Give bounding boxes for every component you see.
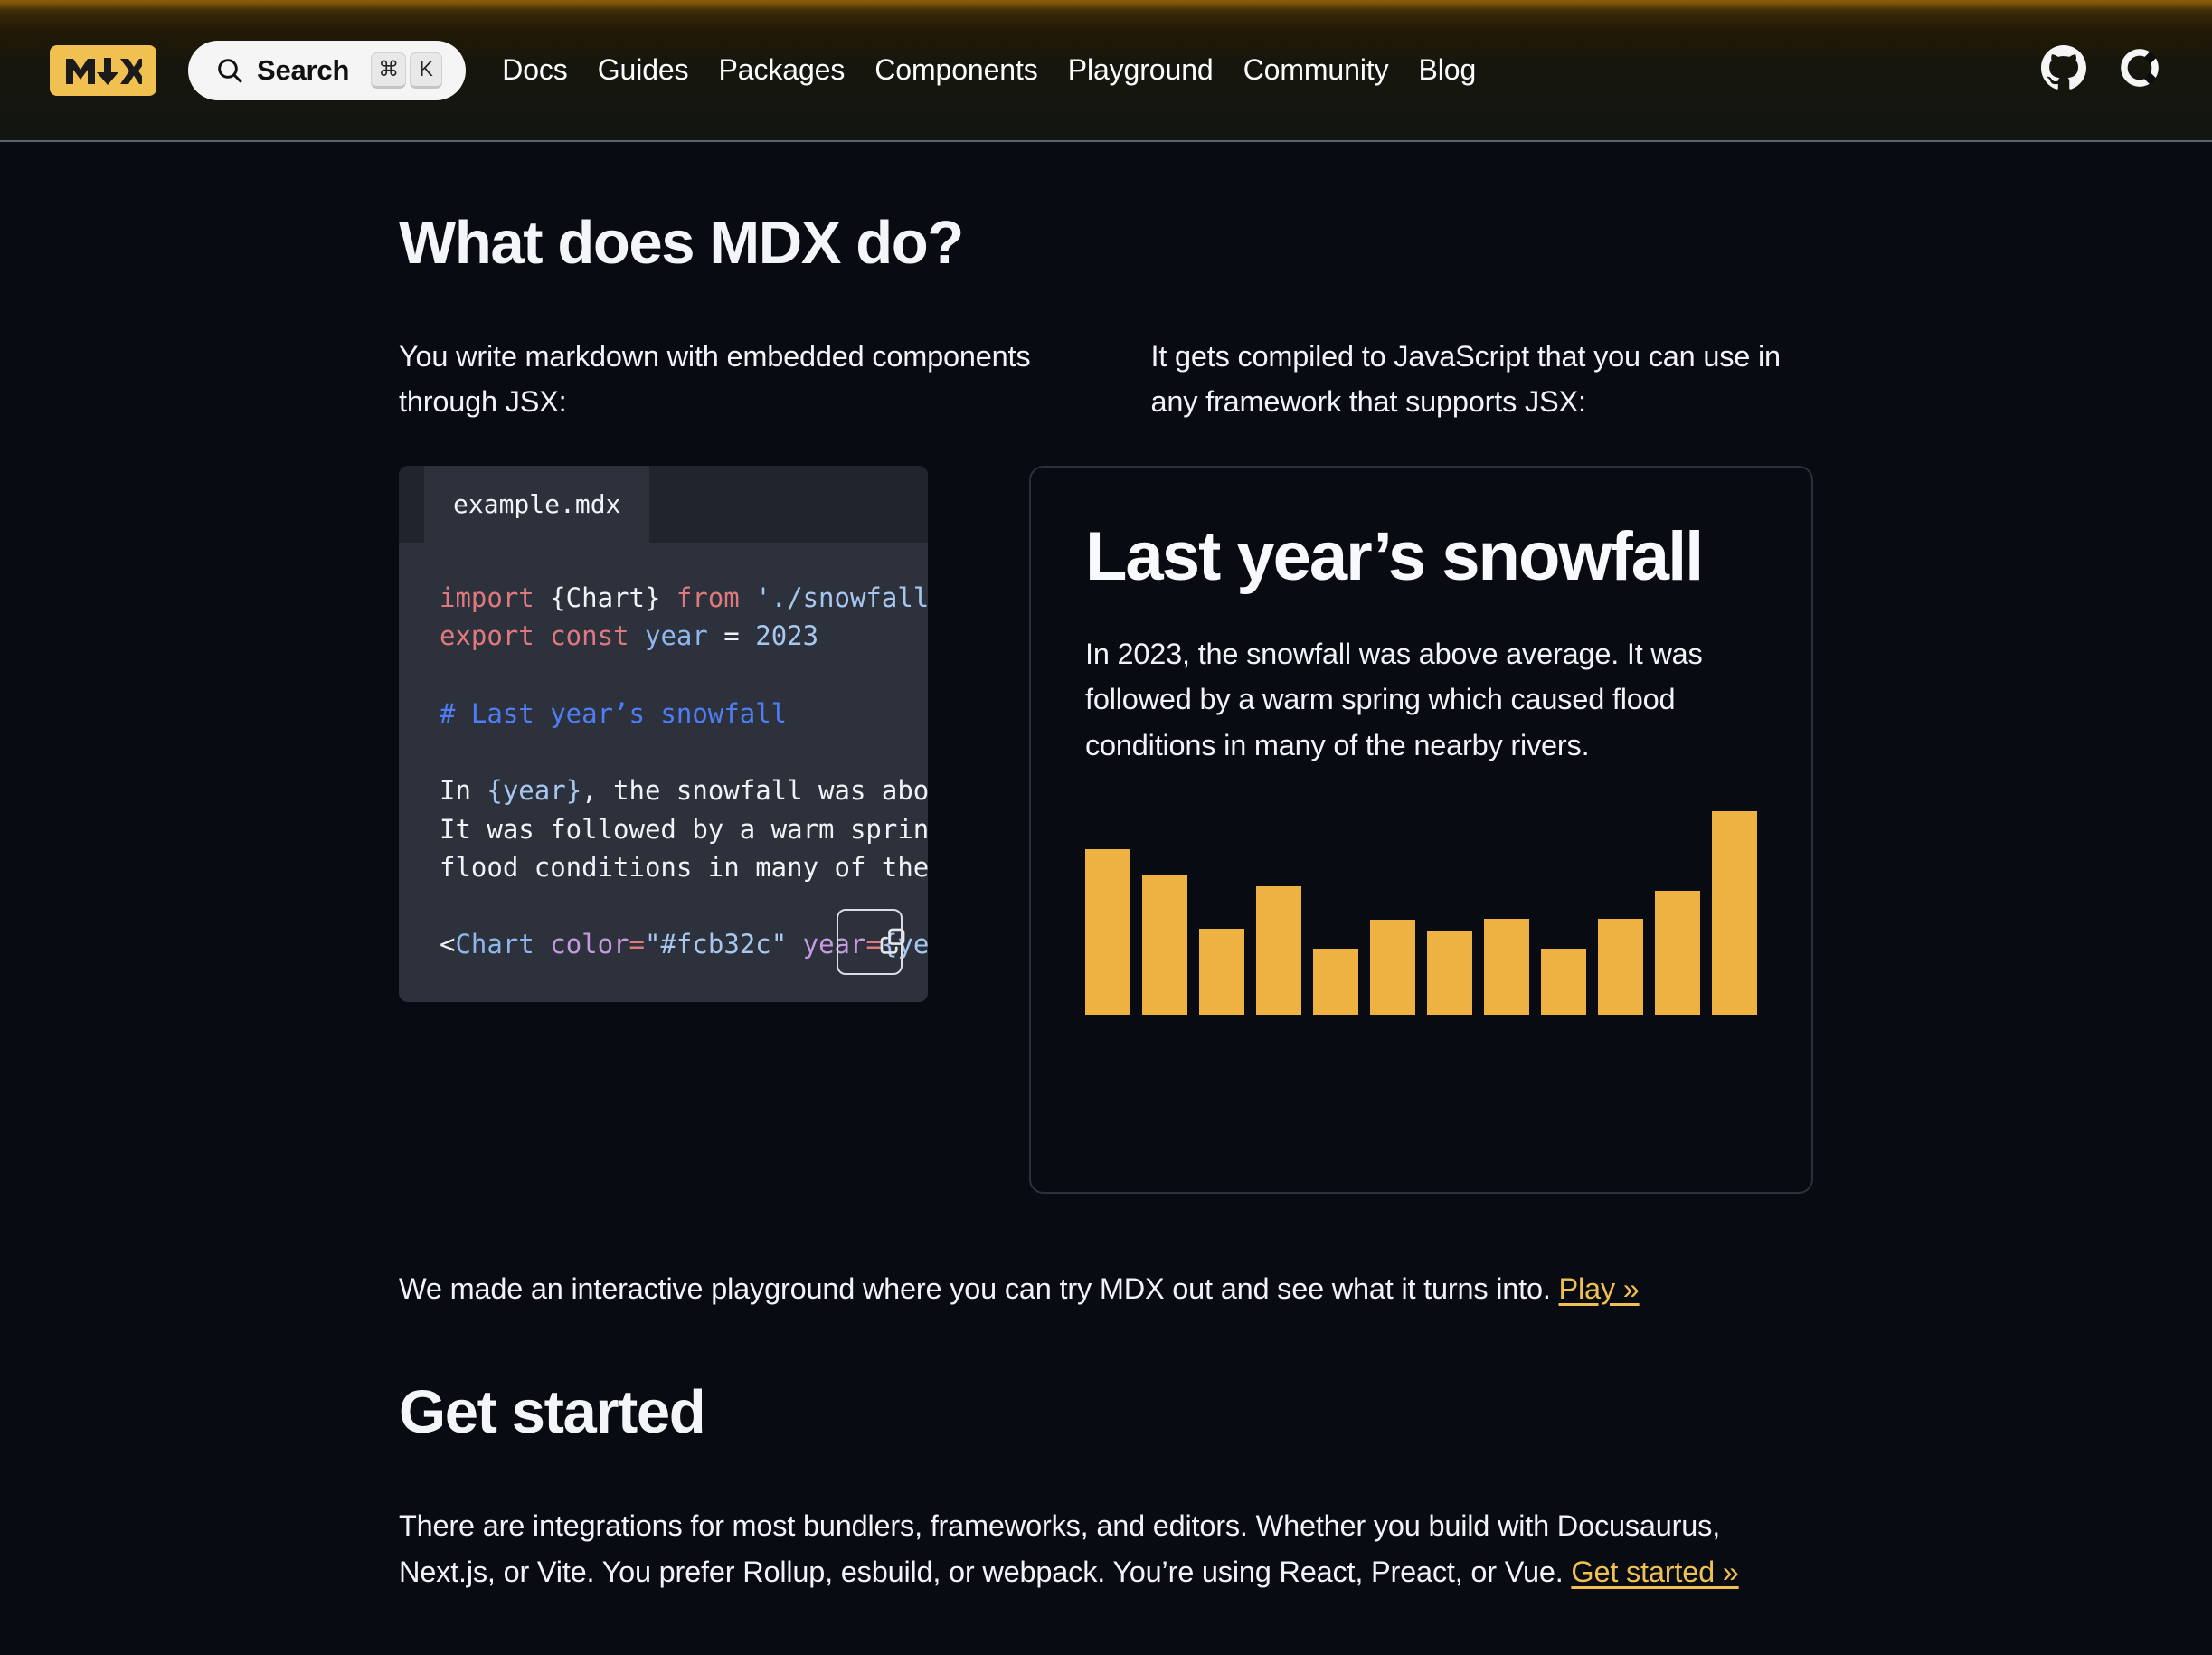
code-token-jsx-open: < — [440, 929, 455, 960]
nav-item-playground[interactable]: Playground — [1068, 53, 1214, 87]
intro-left-text: You write markdown with embedded compone… — [399, 334, 1062, 425]
search-shortcut: ⌘ K — [371, 52, 442, 89]
search-input[interactable]: Search ⌘ K — [188, 41, 466, 100]
intro-right-text: It gets compiled to JavaScript that you … — [1151, 334, 1814, 425]
header-actions — [2041, 45, 2162, 95]
get-started-text: There are integrations for most bundlers… — [399, 1509, 1720, 1587]
nav-item-docs[interactable]: Docs — [502, 53, 568, 87]
snowfall-bar-chart — [1085, 811, 1757, 1015]
chart-bar — [1199, 929, 1244, 1015]
chart-bar — [1370, 920, 1415, 1015]
nav-item-components[interactable]: Components — [874, 53, 1037, 87]
code-token-prose-1a: In — [440, 775, 487, 806]
playground-paragraph: We made an interactive playground where … — [399, 1266, 1813, 1311]
nav-item-community[interactable]: Community — [1243, 53, 1389, 87]
chart-bar — [1541, 949, 1586, 1015]
github-icon — [2041, 45, 2086, 95]
chart-bar — [1142, 875, 1187, 1016]
chart-bar — [1256, 886, 1301, 1015]
search-placeholder: Search — [257, 54, 349, 87]
code-token-prose-2: It was followed by a warm spring which c… — [440, 814, 928, 845]
playground-text: We made an interactive playground where … — [399, 1272, 1558, 1305]
page-title: What does MDX do? — [399, 208, 1813, 278]
code-token-export: export — [440, 620, 534, 651]
code-token-attr-color-eq: = — [629, 929, 645, 960]
mdx-logo[interactable] — [50, 45, 156, 96]
code-token-md-heading: # Last year’s snowfall — [440, 698, 787, 729]
chart-bar — [1313, 949, 1358, 1015]
site-header: Search ⌘ K Docs Guides Packages Componen… — [0, 0, 2212, 142]
primary-nav: Docs Guides Packages Components Playgrou… — [502, 53, 1476, 87]
rendered-output-card: Last year’s snowfall In 2023, the snowfa… — [1029, 466, 1813, 1194]
opencollective-icon — [2117, 45, 2162, 95]
get-started-paragraph: There are integrations for most bundlers… — [399, 1503, 1813, 1594]
code-token-jsx-tag: Chart — [455, 929, 534, 960]
github-link[interactable] — [2041, 45, 2086, 95]
kbd-cmd: ⌘ — [371, 52, 406, 89]
code-token-module-path: './snowfall.js' — [740, 582, 928, 613]
chart-bar — [1484, 919, 1529, 1016]
nav-item-packages[interactable]: Packages — [719, 53, 846, 87]
nav-item-guides[interactable]: Guides — [598, 53, 689, 87]
code-token-chart-import: {Chart} — [534, 582, 676, 613]
code-token-attr-color-value: "#fcb32c" — [645, 929, 787, 960]
intro-columns: You write markdown with embedded compone… — [399, 334, 1813, 425]
chart-bar — [1655, 891, 1700, 1015]
search-icon — [215, 56, 244, 85]
opencollective-link[interactable] — [2117, 45, 2162, 95]
chart-bar — [1427, 931, 1472, 1015]
code-tab-example-mdx[interactable]: example.mdx — [424, 466, 649, 543]
code-tabbar: example.mdx — [399, 466, 928, 543]
code-token-2023: 2023 — [755, 620, 818, 651]
chart-bar — [1598, 919, 1643, 1016]
code-block: example.mdx import {Chart} from './snowf… — [399, 466, 928, 1002]
code-token-year-expr: {year} — [487, 775, 581, 806]
chart-bar — [1085, 849, 1130, 1015]
code-token-year-var: year — [629, 620, 708, 651]
mdx-logo-icon — [64, 55, 142, 86]
code-token-assign: = — [708, 620, 755, 651]
play-link[interactable]: Play » — [1558, 1272, 1639, 1305]
copy-code-button[interactable] — [837, 909, 903, 975]
copy-icon — [831, 912, 909, 972]
kbd-k: K — [410, 52, 442, 89]
code-token-const: const — [534, 620, 629, 651]
code-token-prose-1b: , the snowfall was above average. — [581, 775, 928, 806]
code-token-from: from — [676, 582, 740, 613]
card-title: Last year’s snowfall — [1085, 520, 1757, 593]
page-content: What does MDX do? You write markdown wit… — [0, 208, 2212, 1655]
code-token-import: import — [440, 582, 534, 613]
demo-panes: example.mdx import {Chart} from './snowf… — [399, 466, 1813, 1194]
get-started-link[interactable]: Get started » — [1571, 1556, 1738, 1588]
card-body-text: In 2023, the snowfall was above average.… — [1085, 631, 1757, 768]
nav-item-blog[interactable]: Blog — [1419, 53, 1477, 87]
get-started-title: Get started — [399, 1377, 1813, 1447]
chart-bar — [1712, 811, 1757, 1015]
code-token-attr-color: color — [534, 929, 629, 960]
code-token-prose-3: flood conditions in many of the nearby r… — [440, 852, 928, 883]
code-content[interactable]: import {Chart} from './snowfall.js' expo… — [399, 543, 928, 1002]
